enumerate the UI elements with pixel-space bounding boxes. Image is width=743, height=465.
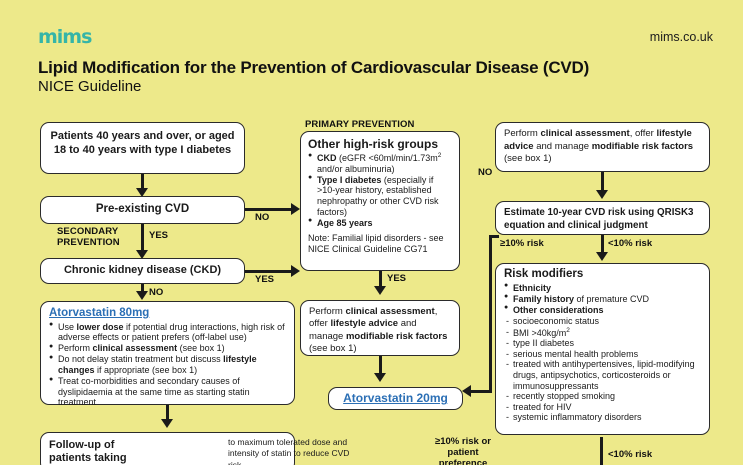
pre-existing-cvd-text: Pre-existing CVD	[96, 203, 189, 215]
edge-label-yes-2: YES	[255, 275, 274, 286]
list-item: Treat co-morbidities and secondary cause…	[49, 376, 286, 408]
edge-label-no-2: NO	[149, 288, 163, 299]
list-item: socioeconomic status	[504, 316, 701, 327]
risk-modifiers-sub-items: socioeconomic status BMI >40kg/m2 type I…	[504, 316, 701, 423]
clinical-assessment-right-box: Perform clinical assessment, offer lifes…	[495, 122, 710, 172]
atorvastatin-80mg-bullets: Use lower dose if potential drug interac…	[49, 322, 286, 408]
page-subtitle: NICE Guideline	[38, 78, 141, 95]
estimate-cvd-risk-box: Estimate 10-year CVD risk using QRISK3 e…	[495, 201, 710, 235]
list-item: Family history of premature CVD	[504, 294, 701, 305]
edge-label-no-3: NO	[478, 168, 492, 179]
atorvastatin-20mg-box: Atorvastatin 20mg	[328, 387, 463, 410]
patients-box-text: Patients 40 years and over, or aged 18 t…	[50, 130, 234, 156]
arrowhead-assessment-estimate	[596, 190, 608, 199]
connector-ge10-rail-top	[489, 235, 499, 238]
list-item: Other considerations	[504, 305, 701, 316]
list-item: CKD (eGFR <60ml/min/1.73m2 and/or albumi…	[308, 152, 452, 174]
patients-box: Patients 40 years and over, or aged 18 t…	[40, 122, 245, 174]
chronic-kidney-disease-box: Chronic kidney disease (CKD)	[40, 258, 245, 284]
list-item: treated for HIV	[504, 402, 701, 413]
list-item: Perform clinical assessment (see box 1)	[49, 343, 286, 354]
arrowhead-ckd-atorva80	[136, 291, 148, 300]
estimate-cvd-risk-text: Estimate 10-year CVD risk using QRISK3 e…	[504, 207, 701, 233]
flowchart-page: mims mims.co.uk Lipid Modification for t…	[0, 0, 743, 465]
connector-ge10-rail	[489, 235, 492, 393]
list-item: Ethnicity	[504, 283, 701, 294]
connector-cvd-ckd	[141, 224, 144, 252]
primary-prevention-label: PRIMARY PREVENTION	[305, 119, 414, 130]
list-item: Type I diabetes (especially if >10-year …	[308, 175, 452, 217]
edge-label-risk-ge10-preference: ≥10% risk or patient preference	[432, 437, 494, 465]
list-item: Do not delay statin treatment but discus…	[49, 354, 286, 375]
arrowhead-lt10-riskmod	[596, 252, 608, 261]
edge-label-risk-ge10: ≥10% risk	[500, 239, 544, 250]
list-item: treated with antihypertensives, lipid-mo…	[504, 359, 701, 391]
arrowhead-highrisk-assessment	[374, 286, 386, 295]
clinical-assessment-mid-box: Perform clinical assessment, offer lifes…	[300, 300, 460, 356]
ckd-text: Chronic kidney disease (CKD)	[64, 264, 221, 276]
atorvastatin-20mg-title: Atorvastatin 20mg	[336, 391, 455, 405]
followup-statins-title: Follow-up of patients taking statins	[49, 439, 159, 465]
list-item: recently stopped smoking	[504, 391, 701, 402]
list-item: type II diabetes	[504, 338, 701, 349]
edge-label-yes-3: YES	[387, 274, 406, 285]
atorvastatin-80mg-box: Atorvastatin 80mg Use lower dose if pote…	[40, 301, 295, 405]
arrowhead-cvd-no	[291, 203, 300, 215]
risk-modifiers-box: Risk modifiers Ethnicity Family history …	[495, 263, 710, 435]
list-item: BMI >40kg/m2	[504, 327, 701, 339]
atorvastatin-80mg-title: Atorvastatin 80mg	[49, 307, 286, 321]
page-title: Lipid Modification for the Prevention of…	[38, 58, 589, 78]
connector-ge10-to-atorva20	[470, 390, 492, 393]
clinical-assessment-mid-text: Perform clinical assessment, offer lifes…	[309, 306, 451, 355]
arrowhead-ckd-yes	[291, 265, 300, 277]
arrowhead-assessment-atorva20	[374, 373, 386, 382]
risk-modifiers-title: Risk modifiers	[504, 268, 701, 282]
connector-cvd-no	[245, 208, 293, 211]
mims-logo: mims	[38, 28, 91, 47]
list-item: systemic inflammatory disorders	[504, 412, 701, 423]
other-high-risk-groups-box: Other high-risk groups CKD (eGFR <60ml/m…	[300, 131, 460, 271]
arrowhead-atorva80-followup	[161, 419, 173, 428]
high-risk-groups-note: Note: Familial lipid disorders - see NIC…	[308, 233, 452, 254]
edge-label-risk-lt10: <10% risk	[608, 239, 652, 250]
arrowhead-ge10-to-atorva20	[462, 385, 471, 397]
list-item: Age 85 years	[308, 218, 452, 229]
site-url: mims.co.uk	[650, 30, 713, 44]
secondary-prevention-label: SECONDARYPREVENTION	[57, 227, 120, 248]
connector-ckd-yes	[245, 270, 293, 273]
list-item: Use lower dose if potential drug interac…	[49, 322, 286, 343]
risk-modifiers-bullets: Ethnicity Family history of premature CV…	[504, 283, 701, 316]
followup-statins-right-text: to maximum tolerated dose and intensity …	[228, 437, 358, 465]
connector-lt10-bottom	[600, 437, 603, 465]
pre-existing-cvd-box: Pre-existing CVD	[40, 196, 245, 224]
high-risk-groups-bullets: CKD (eGFR <60ml/min/1.73m2 and/or albumi…	[308, 152, 452, 228]
edge-label-risk-lt10-bottom: <10% risk	[608, 450, 652, 461]
list-item: serious mental health problems	[504, 349, 701, 360]
clinical-assessment-right-text: Perform clinical assessment, offer lifes…	[504, 128, 701, 166]
edge-label-yes-1: YES	[149, 231, 168, 242]
edge-label-no-1: NO	[255, 213, 269, 224]
other-high-risk-groups-title: Other high-risk groups	[308, 137, 452, 151]
